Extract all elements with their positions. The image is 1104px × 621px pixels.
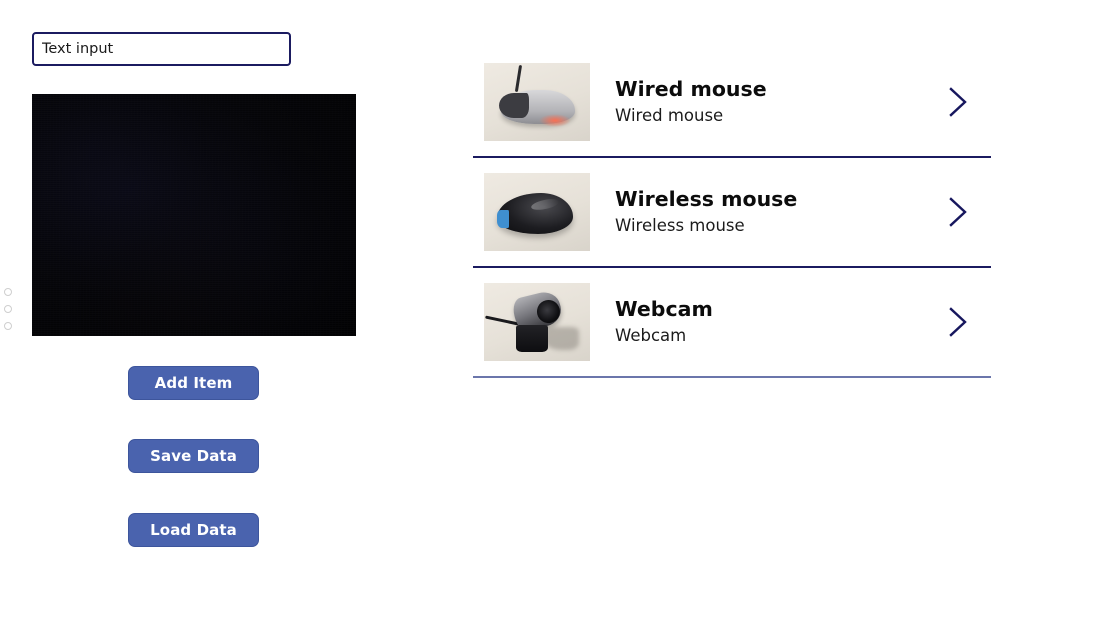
status-dot-3 xyxy=(4,322,12,330)
chevron-right-icon[interactable] xyxy=(945,85,971,119)
chevron-right-icon[interactable] xyxy=(945,305,971,339)
list-item-title: Webcam xyxy=(615,297,945,322)
list-item[interactable]: Wired mouse Wired mouse xyxy=(473,48,991,158)
load-data-button[interactable]: Load Data xyxy=(128,513,259,547)
device-list: Wired mouse Wired mouse Wireless mouse W… xyxy=(473,48,991,378)
status-dot-1 xyxy=(4,288,12,296)
chevron-right-icon[interactable] xyxy=(945,195,971,229)
list-item-text: Wireless mouse Wireless mouse xyxy=(615,187,945,237)
list-item-title: Wireless mouse xyxy=(615,187,945,212)
list-item-subtitle: Wired mouse xyxy=(615,105,945,127)
status-dot-group xyxy=(4,288,16,339)
webcam-photo xyxy=(484,283,590,361)
left-control-panel: Add Item Save Data Load Data xyxy=(0,0,470,621)
list-item-subtitle: Wireless mouse xyxy=(615,215,945,237)
wired-mouse-photo xyxy=(484,63,590,141)
camera-preview-noise xyxy=(32,94,356,336)
add-item-button[interactable]: Add Item xyxy=(128,366,259,400)
list-item[interactable]: Webcam Webcam xyxy=(473,268,991,378)
camera-preview[interactable] xyxy=(32,94,356,336)
list-item-text: Webcam Webcam xyxy=(615,297,945,347)
text-input[interactable] xyxy=(32,32,291,66)
status-dot-2 xyxy=(4,305,12,313)
list-item-subtitle: Webcam xyxy=(615,325,945,347)
wireless-mouse-photo xyxy=(484,173,590,251)
list-item-title: Wired mouse xyxy=(615,77,945,102)
list-item-text: Wired mouse Wired mouse xyxy=(615,77,945,127)
list-item[interactable]: Wireless mouse Wireless mouse xyxy=(473,158,991,268)
save-data-button[interactable]: Save Data xyxy=(128,439,259,473)
